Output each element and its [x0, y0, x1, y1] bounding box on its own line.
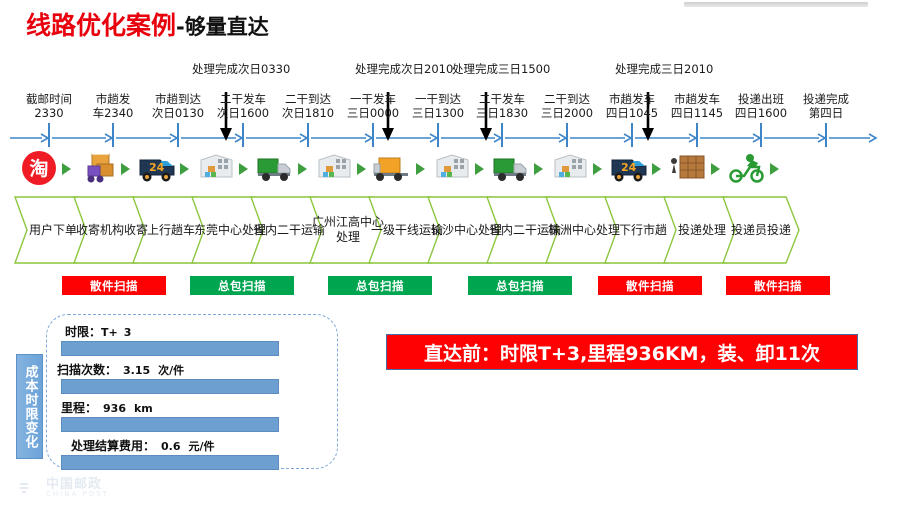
timeline-node-time: 四日1045: [600, 106, 664, 120]
timeline-arrow-head-icon: [365, 134, 372, 142]
timeline-node-name: 市趟到达: [146, 92, 210, 106]
warehouse-icon: [547, 145, 593, 191]
timeline-node-name: 投递出班: [729, 92, 793, 106]
timeline-node-time: 三日0000: [341, 106, 405, 120]
scan-badge-4: 散件扫描: [598, 276, 702, 295]
timeline-tick: [825, 123, 827, 147]
flow-triangle-icon: [593, 163, 602, 175]
scan-badge-label: 总包扫描: [218, 278, 266, 294]
timeline-node-time: 次日0130: [146, 106, 210, 120]
timeline-tick: [48, 123, 50, 147]
timeline-milestone-name: 处理完成: [452, 62, 498, 76]
metric-unit: 元/件: [189, 440, 215, 453]
metric-label: 扫描次数：: [57, 363, 117, 377]
timeline-tick: [112, 123, 114, 147]
watermark-en: CHINA POST: [46, 491, 109, 498]
metric-unit: 次/件: [158, 364, 184, 377]
timeline-node-11: 投递出班四日1600: [729, 92, 793, 120]
warehouse-icon: [193, 145, 239, 191]
timeline-arrow-head-icon: [105, 134, 112, 142]
timeline-milestone-name: 处理完成: [355, 62, 401, 76]
process-step-label: 投递处理: [676, 223, 728, 238]
timeline-milestone-time: 次日2010: [401, 62, 453, 76]
timeline-milestone-time: 三日1500: [498, 62, 550, 76]
timeline-node-7: 二干发车三日1830: [470, 92, 534, 120]
taobao-logo-icon: 淘: [16, 145, 62, 191]
metric-amount: 936: [103, 402, 126, 415]
metric-text-0: 时限：T+3: [65, 323, 327, 340]
metric-row-0: 时限：T+3: [65, 323, 327, 340]
parcel-cart-icon: [75, 145, 121, 191]
svg-text:24: 24: [621, 161, 637, 174]
timeline-node-name: 二干发车: [470, 92, 534, 106]
milestone-down-arrow-icon: [642, 128, 654, 141]
process-step-label: 下行市趟: [617, 223, 669, 238]
timeline-tick: [177, 123, 179, 147]
flow-triangle-icon: [180, 163, 189, 175]
process-steps-row: 用户下单收寄机构收寄上行趟车东莞中心处理省内二干运输广州江高中心处理一级干线运输…: [0, 196, 900, 266]
metrics-panel: 时限：T+3扫描次数：3.15次/件里程：936km处理结算费用：0.6元/件: [46, 314, 338, 469]
timeline-milestone-time: 三日2010: [661, 62, 713, 76]
blue-van-24-icon: 24: [606, 145, 652, 191]
timeline-arrow-head-icon: [235, 134, 242, 142]
process-step-label: 上行趟车: [145, 223, 197, 238]
timeline-node-name: 市趟发: [81, 92, 145, 106]
flow-triangle-icon: [770, 163, 779, 175]
timeline-node-name: 截邮时间: [17, 92, 81, 106]
green-truck-icon: [488, 145, 534, 191]
timeline-arrow-head-icon: [689, 134, 696, 142]
warehouse-icon: [311, 145, 357, 191]
timeline-tick: [696, 123, 698, 147]
timeline-node-name: 二干到达: [535, 92, 599, 106]
process-step-label: 株洲中心处理: [546, 223, 622, 238]
metric-label: 时限：: [65, 325, 101, 339]
timeline-tick: [372, 123, 374, 147]
milestone-down-arrow-icon: [220, 128, 232, 141]
timeline-arrow-head-icon: [430, 134, 437, 142]
scan-badge-5: 散件扫描: [726, 276, 830, 295]
timeline-node-1: 市趟发车2340: [81, 92, 145, 120]
metric-text-3: 处理结算费用：0.6元/件: [71, 437, 333, 454]
metric-bar-1: [61, 379, 279, 394]
metric-label: 处理结算费用：: [71, 439, 155, 453]
milestone-down-arrow-icon: [480, 128, 492, 141]
timeline-tick: [242, 123, 244, 147]
timeline-tick: [307, 123, 309, 147]
flow-triangle-icon: [416, 163, 425, 175]
scan-badge-3: 总包扫描: [468, 276, 572, 295]
delivery-scooter-icon: [724, 145, 770, 191]
scan-badge-2: 总包扫描: [328, 276, 432, 295]
scan-badge-label: 总包扫描: [496, 278, 544, 294]
metric-prefix: T+: [101, 326, 118, 339]
watermark: 中国邮政 CHINA POST: [18, 478, 109, 498]
metric-unit: km: [134, 402, 153, 415]
metric-amount: 3.15: [123, 364, 150, 377]
timeline-node-time: 四日1145: [665, 106, 729, 120]
timeline-node-12: 投递完成第四日: [794, 92, 858, 120]
timeline-node-0: 截邮时间2330: [17, 92, 81, 120]
timeline-node-time: 车2340: [81, 106, 145, 120]
scan-badge-label: 散件扫描: [626, 278, 674, 294]
timeline-node-time: 四日1600: [729, 106, 793, 120]
flow-triangle-icon: [652, 163, 661, 175]
timeline-node-time: 2330: [17, 106, 81, 120]
timeline-milestone-1: 处理完成次日2010: [355, 62, 425, 76]
timeline-arrow-head-icon: [624, 134, 631, 142]
timeline-node-name: 二干到达: [276, 92, 340, 106]
timeline-node-2: 市趟到达次日0130: [146, 92, 210, 120]
milestone-down-arrow-icon: [382, 128, 394, 141]
timeline-milestone-2: 处理完成三日1500: [452, 62, 522, 76]
flow-triangle-icon: [298, 163, 307, 175]
process-step-12[interactable]: 投递员投递: [722, 196, 800, 264]
metric-label: 里程：: [61, 401, 97, 415]
timeline-node-time: 次日1810: [276, 106, 340, 120]
metric-row-2: 里程：936km: [61, 399, 323, 416]
timeline-node-time: 三日1300: [406, 106, 470, 120]
summary-banner: 直达前：时限T+3,里程936KM，装、卸11次: [386, 334, 858, 370]
timeline-node-name: 投递完成: [794, 92, 858, 106]
timeline-node-name: 市趟发车: [600, 92, 664, 106]
scan-badge-1: 总包扫描: [190, 276, 294, 295]
metrics-vertical-label: 成本时限变化: [16, 354, 43, 459]
timeline-milestone-name: 处理完成: [615, 62, 661, 76]
timeline-node-4: 二干到达次日1810: [276, 92, 340, 120]
flow-triangle-icon: [121, 163, 130, 175]
metric-row-1: 扫描次数：3.15次/件: [57, 361, 319, 378]
timeline-node-name: 二干发车: [211, 92, 275, 106]
flow-triangle-icon: [475, 163, 484, 175]
process-step-label: 用户下单: [27, 223, 79, 238]
timeline-milestone-0: 处理完成次日0330: [192, 62, 262, 76]
metric-text-1: 扫描次数：3.15次/件: [57, 361, 319, 378]
svg-text:淘: 淘: [29, 157, 48, 180]
timeline-arrow-head-icon: [559, 134, 566, 142]
metric-amount: 0.6: [161, 440, 181, 453]
scan-badge-label: 散件扫描: [754, 278, 802, 294]
timeline-milestone-time: 次日0330: [238, 62, 290, 76]
flow-triangle-icon: [711, 163, 720, 175]
timeline-node-3: 二干发车次日1600: [211, 92, 275, 120]
timeline-tick: [566, 123, 568, 147]
summary-banner-text: 直达前：时限T+3,里程936KM，装、卸11次: [424, 339, 820, 366]
metric-text-2: 里程：936km: [61, 399, 323, 416]
timeline-node-5: 一干发车三日0000: [341, 92, 405, 120]
timeline-arrow-head-icon: [41, 134, 48, 142]
flow-triangle-icon: [62, 163, 71, 175]
metric-bar-0: [61, 341, 279, 356]
timeline-node-6: 一干到达三日1300: [406, 92, 470, 120]
orange-truck-icon: [370, 145, 416, 191]
timeline-node-time: 三日2000: [535, 106, 599, 120]
scan-badge-label: 散件扫描: [90, 278, 138, 294]
timeline-node-name: 一干到达: [406, 92, 470, 106]
timeline-tick: [437, 123, 439, 147]
timeline-node-8: 二干到达三日2000: [535, 92, 599, 120]
timeline: 截邮时间2330市趟发车2340市趟到达次日0130二干发车次日1600二干到达…: [0, 0, 900, 150]
metric-bar-3: [61, 455, 279, 470]
timeline-arrow-head-icon: [753, 134, 760, 142]
timeline-arrow-head-icon: [818, 134, 825, 142]
timeline-node-name: 市趟发车: [665, 92, 729, 106]
process-icons-row: 淘 24: [0, 145, 900, 197]
scan-badge-label: 总包扫描: [356, 278, 404, 294]
flow-triangle-icon: [534, 163, 543, 175]
timeline-milestone-name: 处理完成: [192, 62, 238, 76]
timeline-arrow-head-icon: [300, 134, 307, 142]
timeline-arrow-head-icon: [494, 134, 501, 142]
flow-triangle-icon: [239, 163, 248, 175]
timeline-node-time: 第四日: [794, 106, 858, 120]
metric-amount: 3: [124, 326, 132, 339]
timeline-node-10: 市趟发车四日1145: [665, 92, 729, 120]
timeline-milestone-3: 处理完成三日2010: [615, 62, 685, 76]
scan-badge-0: 散件扫描: [62, 276, 166, 295]
china-post-logo-icon: [18, 480, 40, 496]
timeline-node-time: 次日1600: [211, 106, 275, 120]
process-step-label: 收寄机构收寄: [74, 223, 150, 238]
timeline-tick: [501, 123, 503, 147]
blue-van-24-icon: 24: [134, 145, 180, 191]
metric-bar-2: [61, 417, 279, 432]
timeline-tick: [760, 123, 762, 147]
flow-triangle-icon: [357, 163, 366, 175]
timeline-node-time: 三日1830: [470, 106, 534, 120]
timeline-arrow-head-icon: [869, 134, 876, 142]
metric-row-3: 处理结算费用：0.6元/件: [71, 437, 333, 454]
timeline-node-name: 一干发车: [341, 92, 405, 106]
svg-text:24: 24: [149, 161, 165, 174]
timeline-tick: [631, 123, 633, 147]
sorting-shelf-icon: [665, 145, 711, 191]
timeline-arrow-head-icon: [170, 134, 177, 142]
timeline-node-9: 市趟发车四日1045: [600, 92, 664, 120]
warehouse-icon: [429, 145, 475, 191]
metrics-vertical-label-text: 成本时限变化: [22, 365, 38, 449]
process-step-label: 投递员投递: [729, 223, 793, 238]
scan-badges-row: 散件扫描总包扫描总包扫描总包扫描散件扫描散件扫描: [0, 276, 900, 296]
green-truck-icon: [252, 145, 298, 191]
